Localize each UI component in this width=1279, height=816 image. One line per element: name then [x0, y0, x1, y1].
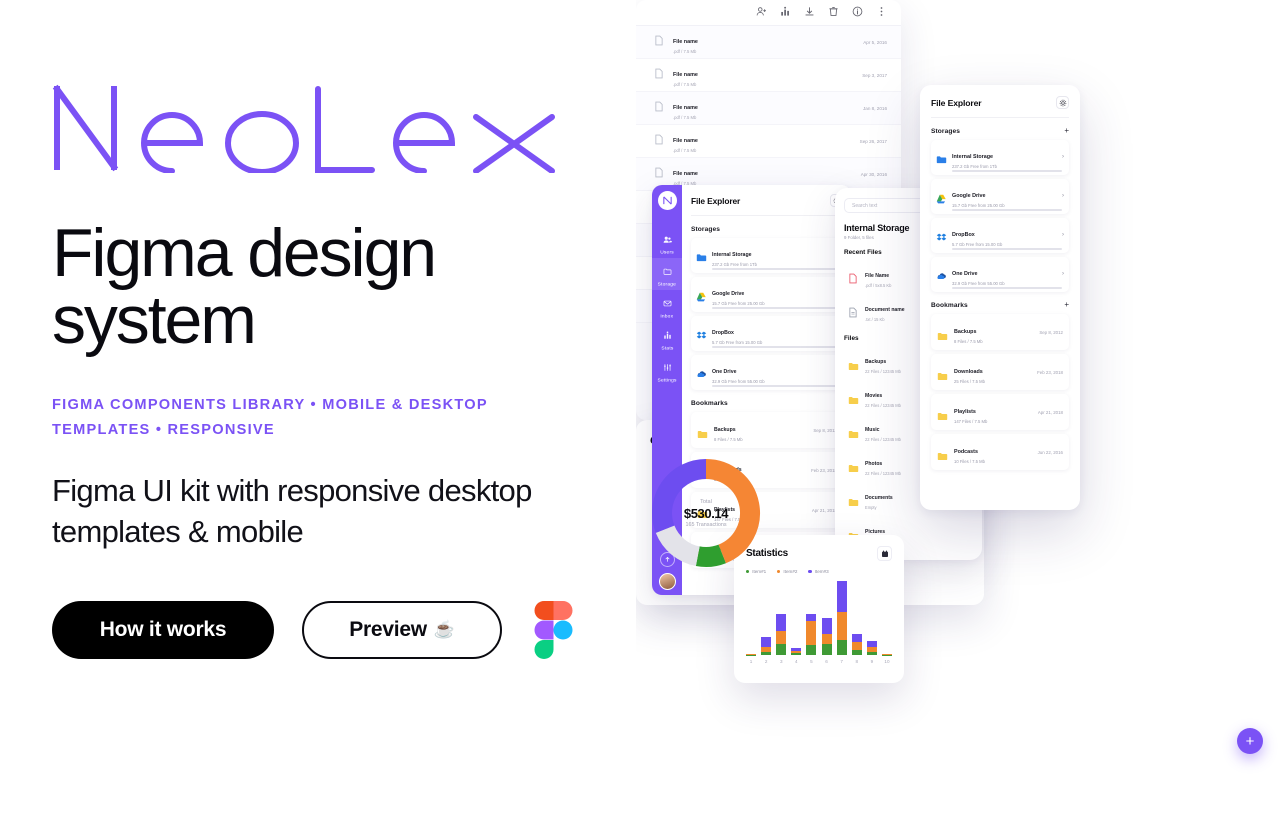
chevron-right-icon: ›	[1062, 232, 1064, 238]
storage-capacity: 32.9 Gb Free from 55.00 Gb	[712, 379, 831, 384]
row-date: Sep 3, 2017	[862, 73, 887, 78]
bookmark-item[interactable]: Playlists 147 Files / 7.5 Mb Apr 21, 201…	[931, 394, 1069, 430]
sliders-icon	[663, 359, 672, 377]
stats-icon	[663, 327, 672, 345]
storage-progress-track	[952, 248, 1062, 250]
row-date: Sep 26, 2017	[860, 139, 887, 144]
dropbox-icon	[696, 328, 707, 339]
gear-icon[interactable]	[1056, 96, 1069, 109]
app-header: File Explorer	[691, 194, 843, 216]
row-name: File name	[673, 171, 698, 177]
add-user-icon[interactable]	[756, 4, 767, 22]
page-title: File Explorer	[691, 196, 740, 206]
x-axis-label: 8	[852, 659, 862, 664]
storage-capacity: 15.7 Gb Free from 25.00 Gb	[952, 203, 1057, 208]
bar-column	[791, 631, 801, 655]
table-row[interactable]: File name .pdf / 7.5 Mb Sep 26, 2017	[636, 125, 901, 158]
row-meta: .pdf / 7.5 Mb	[673, 82, 854, 87]
row-meta: .pdf / 7.5 Mb	[673, 49, 855, 54]
sidebar-item-label: Inbox	[661, 313, 674, 318]
storage-name: Internal Storage	[712, 252, 752, 258]
file-name: File Name	[865, 273, 889, 279]
sidebar-item-storage[interactable]: Storage	[652, 258, 682, 290]
donut-chart: Total $530.14 165 Transactions	[650, 457, 762, 569]
x-axis-label: 10	[882, 659, 892, 664]
storage-progress-track	[712, 307, 836, 309]
bar-segment	[806, 621, 816, 645]
bar-segment	[776, 644, 786, 655]
bookmark-name: Podcasts	[954, 449, 978, 455]
file-icon	[654, 99, 665, 117]
file-name: Document name	[865, 307, 905, 313]
row-date: Apr 5, 2016	[863, 40, 887, 45]
bar-column	[837, 581, 847, 655]
row-meta: .pdf / 7.5 Mb	[673, 148, 852, 153]
storage-name: DropBox	[952, 232, 975, 238]
statistics-legend: Item#1 Item#2 Item#3	[746, 569, 892, 574]
storage-progress-track	[952, 209, 1062, 211]
bookmarks-title: Bookmarks	[931, 302, 968, 309]
file-explorer-card: File Explorer Storages + Internal Storag…	[920, 85, 1080, 510]
bar-segment	[791, 653, 801, 655]
bookmark-item[interactable]: Podcasts 10 Files / 7.5 Mb Jun 22, 2016	[931, 434, 1069, 470]
statistics-header: Statistics	[746, 546, 892, 561]
bookmarks-section-header: Bookmarks +	[931, 301, 1069, 309]
row-name: File name	[673, 105, 698, 111]
storage-name: Internal Storage	[952, 154, 993, 160]
folder-blue-icon	[696, 250, 707, 261]
pdf-icon	[848, 271, 859, 282]
storage-item[interactable]: Internal Storage 237.2 Gb Free from 1Tb …	[691, 238, 843, 273]
bar-segment	[822, 634, 832, 644]
file-name: Movies	[865, 393, 882, 399]
storage-capacity: 237.2 Gb Free from 1Tb	[952, 164, 1057, 169]
bar-column	[852, 615, 862, 655]
statistics-bar-chart	[746, 581, 892, 655]
row-name: File name	[673, 39, 698, 45]
folder-yellow-icon	[848, 494, 859, 503]
folder-blue-icon	[936, 152, 947, 163]
sidebar-item-label: Stats	[661, 345, 673, 350]
folder-yellow-icon	[848, 460, 859, 469]
file-icon	[654, 165, 665, 183]
bar-column	[746, 644, 756, 655]
table-row[interactable]: File name .pdf / 7.5 Mb Sep 3, 2017	[636, 59, 901, 92]
storage-capacity: 237.2 Gb Free from 1Tb	[712, 262, 831, 267]
bar-segment	[852, 650, 862, 655]
bar-segment	[776, 631, 786, 644]
product-mockup-collage: Users Storage Inbox Stats Settings File …	[636, 0, 1279, 816]
legend-dot	[777, 570, 780, 573]
row-meta: .pdf / 7.5 Mb	[673, 115, 855, 120]
bar-segment	[776, 614, 786, 631]
users-icon	[663, 231, 672, 249]
file-explorer-header: File Explorer	[931, 96, 1069, 118]
bookmark-name: Backups	[954, 329, 976, 335]
brand-logo	[52, 62, 612, 192]
legend-label: Item#1	[752, 569, 766, 574]
bookmark-item[interactable]: Downloads 25 Files / 7.5 Mb Feb 23, 2018	[931, 354, 1069, 390]
storage-capacity: 15.7 Gb Free from 25.00 Gb	[712, 301, 831, 306]
google-drive-icon	[696, 289, 707, 300]
folder-yellow-icon	[937, 408, 948, 417]
hero-subtitle: Figma UI kit with responsive desktop tem…	[52, 471, 592, 553]
row-date: Apr 30, 2016	[861, 172, 887, 177]
how-it-works-button[interactable]: How it works	[52, 601, 274, 659]
bookmark-name: Downloads	[954, 369, 983, 375]
bookmark-name: Playlists	[954, 409, 976, 415]
table-toolbar	[636, 0, 901, 26]
storage-name: One Drive	[952, 271, 977, 277]
storage-progress-track	[952, 287, 1062, 289]
bar-segment	[837, 640, 847, 655]
folder-yellow-icon	[848, 358, 859, 367]
bar-segment	[806, 645, 816, 655]
bar-segment	[837, 581, 847, 612]
donut-total-value: $530.14	[684, 506, 728, 521]
sidebar-item-settings[interactable]: Settings	[652, 354, 682, 386]
bookmark-date: Sep 8, 2012	[813, 428, 837, 433]
bookmark-meta: 147 Files / 7.5 Mb	[954, 419, 1032, 424]
chevron-right-icon: ›	[1062, 271, 1064, 277]
avatar[interactable]	[659, 573, 676, 590]
preview-button[interactable]: Preview ☕	[302, 601, 502, 659]
bar-column	[761, 618, 771, 655]
hero-kicker: FIGMA COMPONENTS LIBRARY • MOBILE & DESK…	[52, 393, 522, 443]
row-date: Jan 8, 2016	[863, 106, 887, 111]
bar-segment	[852, 634, 862, 643]
bar-segment	[822, 644, 832, 655]
bar-segment	[761, 652, 771, 655]
legend-label: Item#2	[783, 569, 797, 574]
file-icon	[654, 33, 665, 51]
coffee-icon: ☕	[434, 620, 455, 640]
bookmark-name: Backups	[714, 427, 736, 433]
bookmark-item[interactable]: Backups 8 Files / 7.5 Mb Sep 8, 2012	[691, 412, 843, 448]
storage-item[interactable]: DropBox 5.7 Gb Free from 15.00 Gb ›	[931, 218, 1069, 253]
chart-icon[interactable]	[780, 4, 791, 22]
file-icon	[654, 66, 665, 84]
storage-item[interactable]: Google Drive 15.7 Gb Free from 25.00 Gb …	[931, 179, 1069, 214]
storage-capacity: 5.7 Gb Free from 15.00 Gb	[712, 340, 831, 345]
storages-section-header: Storages +	[691, 225, 843, 233]
storage-item[interactable]: One Drive 32.9 Gb Free from 55.00 Gb ›	[931, 257, 1069, 292]
storages-section-header: Storages +	[931, 127, 1069, 135]
file-icon	[654, 132, 665, 150]
x-axis-label: 7	[837, 659, 847, 664]
bookmarks-section-header: Bookmarks +	[691, 399, 843, 407]
folder-yellow-icon	[697, 426, 708, 435]
folder-yellow-icon	[848, 426, 859, 435]
storage-item[interactable]: DropBox 5.7 Gb Free from 15.00 Gb ›	[691, 316, 843, 351]
legend-item: Item#1	[746, 569, 766, 574]
bookmark-item[interactable]: Backups 8 Files / 7.5 Mb Sep 8, 2012	[931, 314, 1069, 350]
sidebar-item-users[interactable]: Users	[652, 226, 682, 258]
legend-item: Item#3	[808, 569, 828, 574]
bookmark-meta: 8 Files / 7.5 Mb	[714, 437, 807, 442]
neolex-mark-icon	[662, 195, 673, 206]
cta-row: How it works Preview ☕	[52, 601, 612, 659]
figma-logo-icon[interactable]	[534, 601, 573, 659]
storage-name: Google Drive	[712, 291, 744, 297]
folder-yellow-icon	[848, 392, 859, 401]
trash-icon[interactable]	[828, 4, 839, 22]
marketing-column: Figma design system FIGMA COMPONENTS LIB…	[52, 62, 612, 659]
donut-center-label: Total $530.14 165 Transactions	[650, 457, 762, 569]
legend-dot	[746, 570, 749, 573]
donut-total-label: Total	[700, 499, 712, 505]
page-title: Figma design system	[52, 220, 572, 355]
bar-segment	[852, 642, 862, 650]
legend-item: Item#2	[777, 569, 797, 574]
bookmark-date: Apr 21, 2018	[812, 508, 837, 513]
file-name: Music	[865, 427, 879, 433]
storage-capacity: 5.7 Gb Free from 15.00 Gb	[952, 242, 1057, 247]
folder-yellow-icon	[937, 368, 948, 377]
sidebar-item-inbox[interactable]: Inbox	[652, 290, 682, 322]
table-row[interactable]: File name .pdf / 7.5 Mb Jan 8, 2016	[636, 92, 901, 125]
more-icon[interactable]	[876, 4, 887, 22]
storage-capacity: 32.9 Gb Free from 55.00 Gb	[952, 281, 1057, 286]
bar-segment	[867, 652, 877, 655]
folder-yellow-icon	[937, 448, 948, 457]
x-axis-label: 6	[822, 659, 832, 664]
sidebar-item-label: Storage	[658, 281, 676, 286]
chevron-right-icon: ›	[1062, 154, 1064, 160]
storage-item[interactable]: One Drive 32.9 Gb Free from 55.00 Gb ›	[691, 355, 843, 390]
bookmarks-title: Bookmarks	[691, 400, 728, 407]
bar-column	[806, 600, 816, 655]
storage-item[interactable]: Internal Storage 237.2 Gb Free from 1Tb …	[931, 140, 1069, 175]
bookmark-date: Feb 23, 2018	[1037, 370, 1063, 375]
folder-icon	[663, 263, 672, 281]
google-drive-icon	[936, 191, 947, 202]
bar-segment	[761, 637, 771, 647]
storage-progress-track	[712, 268, 836, 270]
x-axis-label: 2	[761, 659, 771, 664]
statistics-x-axis: 12345678910	[746, 659, 892, 664]
donut-transactions: 165 Transactions	[685, 522, 726, 528]
bookmark-date: Feb 23, 2018	[811, 468, 837, 473]
bookmark-meta: 8 Files / 7.5 Mb	[954, 339, 1033, 344]
preview-button-label: Preview	[349, 618, 427, 642]
file-name: Documents	[865, 495, 893, 501]
bookmark-meta: 25 Files / 7.5 Mb	[954, 379, 1031, 384]
bookmark-date: Sep 8, 2012	[1039, 330, 1063, 335]
folder-yellow-icon	[937, 328, 948, 337]
storage-item[interactable]: Google Drive 15.7 Gb Free from 25.00 Gb …	[691, 277, 843, 312]
legend-label: Item#3	[815, 569, 829, 574]
storages-title: Storages	[691, 226, 720, 233]
x-axis-label: 4	[791, 659, 801, 664]
mail-icon	[663, 295, 672, 313]
doc-icon	[848, 305, 859, 316]
x-axis-label: 9	[867, 659, 877, 664]
bar-segment	[806, 614, 816, 621]
sidebar-item-label: Settings	[657, 377, 676, 382]
table-row[interactable]: File name .pdf / 7.5 Mb Apr 5, 2016	[636, 26, 901, 59]
row-name: File name	[673, 72, 698, 78]
bookmark-meta: 10 Files / 7.5 Mb	[954, 459, 1032, 464]
download-icon[interactable]	[804, 4, 815, 22]
bar-column	[776, 600, 786, 655]
dropbox-icon	[936, 230, 947, 241]
onedrive-icon	[696, 367, 707, 378]
storage-progress-track	[712, 346, 836, 348]
file-explorer-title: File Explorer	[931, 98, 982, 108]
info-icon[interactable]	[852, 4, 863, 22]
file-name: Backups	[865, 359, 886, 365]
x-axis-label: 1	[746, 659, 756, 664]
onedrive-icon	[936, 269, 947, 280]
add-storage-button[interactable]: +	[1064, 127, 1069, 135]
add-bookmark-button[interactable]: +	[1064, 301, 1069, 309]
storage-name: One Drive	[712, 369, 737, 375]
file-name: Photos	[865, 461, 882, 467]
storage-progress-track	[712, 385, 836, 387]
bar-column	[822, 603, 832, 655]
bar-segment	[822, 618, 832, 634]
storage-name: DropBox	[712, 330, 734, 336]
chevron-right-icon: ›	[1062, 193, 1064, 199]
calendar-icon[interactable]	[877, 546, 892, 561]
bar-column	[882, 644, 892, 655]
row-name: File name	[673, 138, 698, 144]
storage-name: Google Drive	[952, 193, 986, 199]
bar-column	[867, 623, 877, 655]
storages-title: Storages	[931, 128, 960, 135]
neolex-logo-icon	[52, 81, 562, 173]
bookmark-date: Jun 22, 2016	[1038, 450, 1063, 455]
sidebar-logo	[658, 191, 677, 210]
sidebar-item-label: Users	[660, 249, 674, 254]
bar-segment	[837, 612, 847, 640]
legend-dot	[808, 570, 811, 573]
storage-progress-track	[952, 170, 1062, 172]
x-axis-label: 5	[806, 659, 816, 664]
sidebar-item-stats[interactable]: Stats	[652, 322, 682, 354]
x-axis-label: 3	[776, 659, 786, 664]
bookmark-date: Apr 21, 2018	[1038, 410, 1063, 415]
